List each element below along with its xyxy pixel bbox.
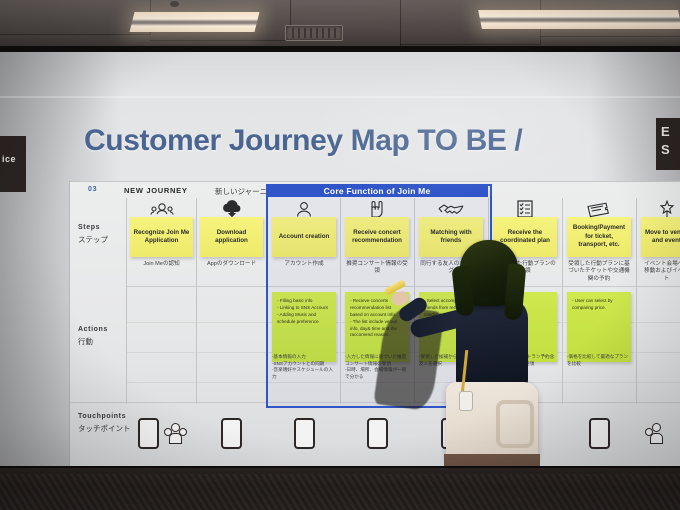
- action-note[interactable]: - User can select by comparing price.: [567, 292, 631, 362]
- grid-line: [126, 198, 127, 404]
- tickets-icon: [565, 199, 633, 219]
- presenter-pocket: [496, 400, 534, 448]
- grid-line: [636, 198, 637, 404]
- grid-line: [562, 198, 563, 404]
- row-label-actions-en: Actions: [78, 326, 108, 333]
- row-label-steps-jp: ステップ: [78, 234, 108, 245]
- step-note[interactable]: Move to venue and event: [641, 217, 680, 257]
- step-note[interactable]: Download application: [200, 217, 263, 257]
- step-cell[interactable]: Download application Appのダウンロード: [198, 199, 265, 284]
- ceiling-light-left: [130, 12, 260, 32]
- board-top-edge: [70, 181, 680, 182]
- touchpoint-cell[interactable]: [565, 404, 633, 462]
- step-cell[interactable]: Recognize Join Me Application Join Meの認知: [128, 199, 195, 284]
- screenshot-root: ice E S Customer Journey Map TO BE / 03 …: [0, 0, 680, 510]
- right-wall-sign-text-line1: E: [661, 124, 670, 139]
- row-label-touchpoints-jp: タッチポイント: [78, 423, 131, 434]
- right-wall-sign: E S: [656, 118, 680, 170]
- users-group-icon: [128, 199, 195, 219]
- carpet-texture: [0, 474, 680, 510]
- step-cell[interactable]: Booking/Payment for ticket, transport, e…: [565, 199, 633, 284]
- checklist-icon: [491, 199, 559, 219]
- presenter-badge: [460, 392, 472, 410]
- left-wall-sign-text: ice: [2, 154, 16, 164]
- ceiling-vent: [285, 25, 343, 41]
- ceiling-light-right: [478, 10, 680, 29]
- journey-number: 03: [88, 186, 97, 193]
- step-note-jp: Appのダウンロード: [198, 261, 265, 268]
- phone-icon: [221, 418, 242, 449]
- touchpoint-cell[interactable]: [198, 404, 265, 462]
- action-cell[interactable]: - User can select by comparing price. -価…: [565, 292, 633, 388]
- phone-icon: [367, 418, 388, 449]
- row-label-steps: Steps ステップ: [78, 224, 108, 245]
- smoke-detector-icon: [170, 1, 179, 7]
- row-label-actions: Actions 行動: [78, 326, 108, 347]
- row-label-actions-jp: 行動: [78, 336, 108, 347]
- action-note-jp: -価格を比較して最適なプランを比較: [567, 354, 631, 367]
- phone-icon: [589, 418, 610, 449]
- page-title: Customer Journey Map TO BE /: [84, 124, 522, 158]
- people-icon: [645, 423, 667, 443]
- journey-label-en: NEW JOURNEY: [124, 186, 188, 195]
- phone-icon: [294, 418, 315, 449]
- step-note-jp: Join Meの認知: [128, 261, 195, 268]
- step-cell[interactable]: Move to venue and event イベント会場への移動およびイベン…: [639, 199, 680, 284]
- phone-icon: [138, 418, 159, 449]
- step-note[interactable]: Booking/Payment for ticket, transport, e…: [567, 217, 631, 257]
- step-note-jp: イベント会場への移動およびイベント: [639, 261, 680, 283]
- step-note-jp: 受領した行動プランに基づいたチケットや交通機関の予約: [565, 261, 633, 283]
- touchpoint-cell[interactable]: [128, 404, 195, 462]
- left-wall-sign: ice: [0, 136, 26, 192]
- touchpoint-cell[interactable]: [270, 404, 338, 462]
- row-label-steps-en: Steps: [78, 224, 108, 231]
- row-label-touchpoints: Touchpoints タッチポイント: [78, 413, 131, 434]
- touchpoint-cell[interactable]: [639, 404, 680, 462]
- ceiling: [0, 0, 680, 58]
- cloud-download-icon: [198, 199, 265, 219]
- step-note[interactable]: Recognize Join Me Application: [130, 217, 193, 257]
- location-pin-icon: [639, 199, 680, 219]
- wall-seam: [0, 96, 680, 98]
- right-wall-sign-text-line2: S: [661, 142, 670, 157]
- touchpoint-cell[interactable]: [343, 404, 411, 462]
- core-function-title: Core Function of Join Me: [266, 184, 488, 197]
- people-icon: [164, 423, 186, 443]
- row-label-touchpoints-en: Touchpoints: [78, 413, 131, 420]
- grid-line: [196, 198, 197, 404]
